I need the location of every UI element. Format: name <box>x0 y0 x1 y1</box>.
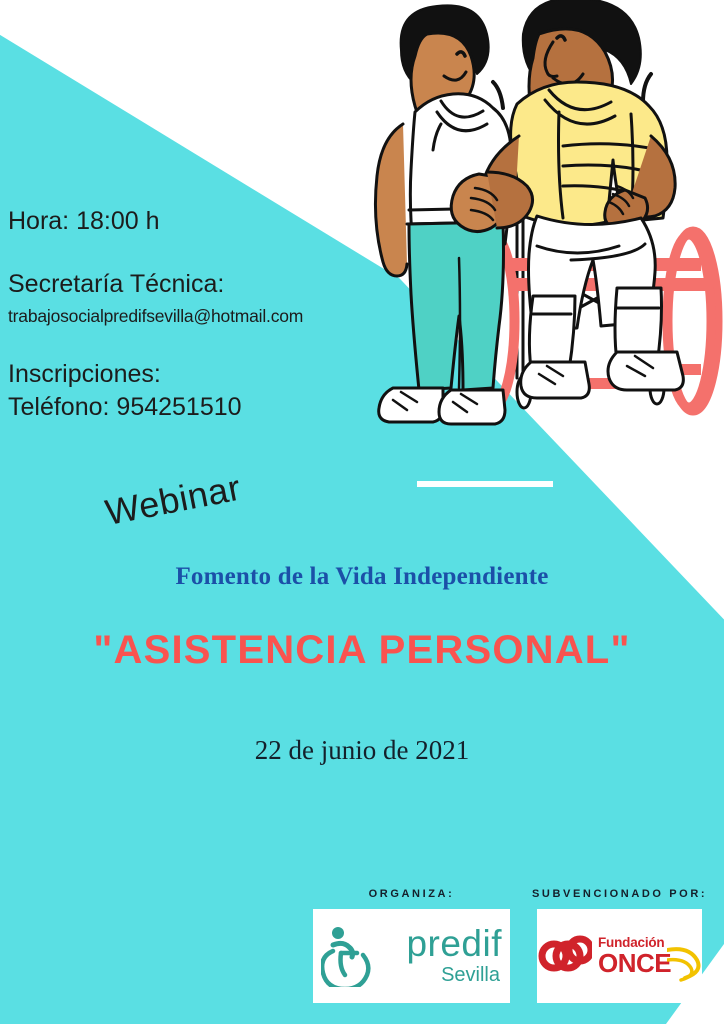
once-wordmark: ONCE <box>598 950 671 976</box>
white-divider-line <box>417 481 553 487</box>
footer-logos: ORGANIZA: predif Sevilla <box>313 888 713 1003</box>
page-title: "ASISTENCIA PERSONAL" <box>0 628 724 673</box>
yellow-swoosh-icon <box>667 944 701 984</box>
event-time: Hora: 18:00 h <box>8 207 358 236</box>
poster-subtitle: Fomento de la Vida Independiente <box>0 563 724 591</box>
predif-city: Sevilla <box>441 964 500 986</box>
handshake-icon <box>451 172 532 232</box>
registration-label: Inscripciones: <box>8 358 358 391</box>
poster-canvas: Hora: 18:00 h Secretaría Técnica: trabaj… <box>0 0 724 1024</box>
contact-email[interactable]: trabajosocialpredifsevilla@hotmail.com <box>8 305 358 329</box>
organiza-caption: ORGANIZA: <box>369 888 455 900</box>
two-people-handshake-wheelchair-illustration <box>341 0 724 456</box>
fundacion-once-logo: Fundación ONCE <box>537 909 702 1003</box>
interlocking-rings-icon <box>538 934 592 978</box>
subvencionado-caption: SUBVENCIONADO POR: <box>532 888 707 900</box>
predif-wordmark: predif <box>406 926 502 961</box>
predif-logo: predif Sevilla <box>313 909 510 1003</box>
event-info-block: Hora: 18:00 h Secretaría Técnica: trabaj… <box>8 207 358 423</box>
registration-phone[interactable]: Teléfono: 954251510 <box>8 391 358 424</box>
event-date: 22 de junio de 2021 <box>0 735 724 766</box>
secretariat-label: Secretaría Técnica: <box>8 270 358 299</box>
fundacion-wordmark: Fundación <box>598 936 671 950</box>
wheelchair-person-icon <box>321 925 373 987</box>
organizer-column: ORGANIZA: predif Sevilla <box>313 888 510 1003</box>
funder-column: SUBVENCIONADO POR: Fundación ONCE <box>532 888 707 1003</box>
